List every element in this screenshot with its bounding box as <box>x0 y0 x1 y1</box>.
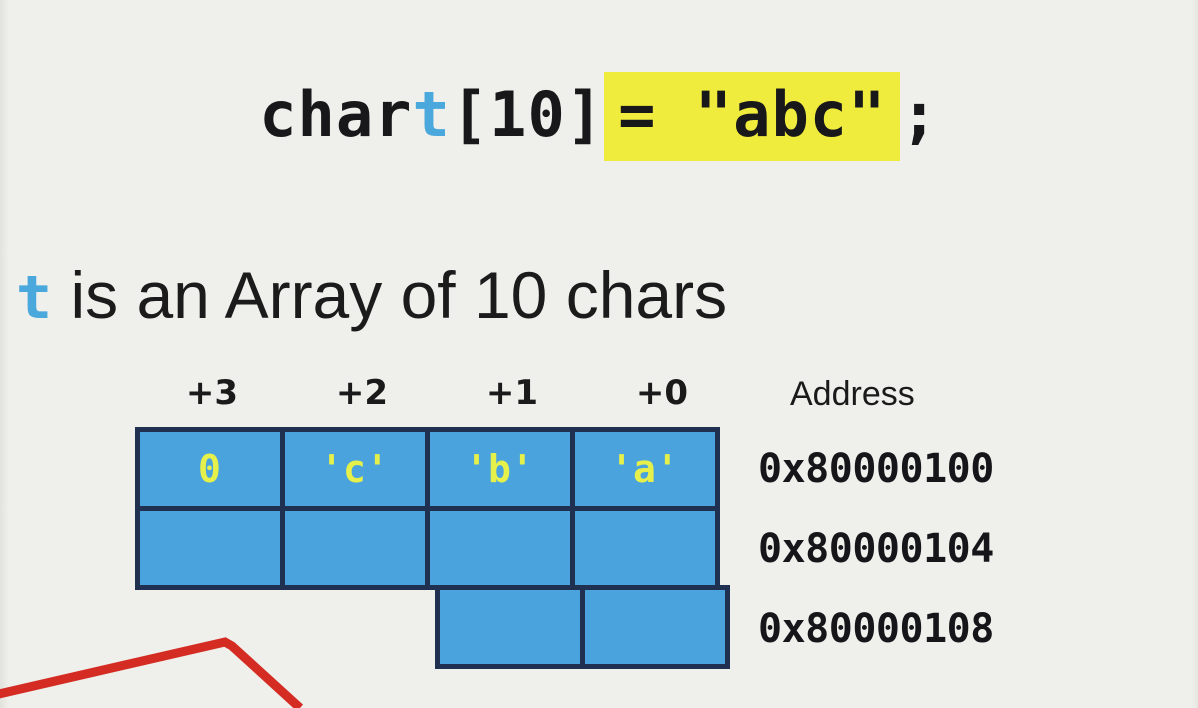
memory-cell <box>580 585 730 669</box>
offset-label-plus1: +1 <box>437 373 587 413</box>
offset-label-plus3: +3 <box>137 373 287 413</box>
headline-variable-t: t <box>16 263 52 333</box>
page-title: t is an Array of 10 chars <box>16 262 727 328</box>
address-column: 0x80000100 0x80000104 0x80000108 <box>758 429 994 669</box>
offset-label-plus2: +2 <box>287 373 437 413</box>
code-declaration-line: char t[10] = "abc"; <box>0 72 1198 161</box>
code-array-size: [10] <box>451 84 604 146</box>
address-value: 0x80000104 <box>758 509 994 589</box>
memory-row <box>437 587 737 666</box>
memory-cell: 'c' <box>280 427 430 511</box>
code-highlighted-assignment: = "abc" <box>604 72 900 161</box>
memory-row <box>137 508 737 587</box>
byte-offset-header-row: +3 +2 +1 +0 <box>137 373 737 413</box>
memory-cell <box>135 506 285 590</box>
code-semicolon: ; <box>900 84 938 146</box>
address-value: 0x80000100 <box>758 429 994 509</box>
memory-cell <box>280 506 430 590</box>
memory-cell <box>435 585 585 669</box>
memory-cell: 0 <box>135 427 285 511</box>
memory-cell-grid: 0 'c' 'b' 'a' <box>137 429 737 666</box>
memory-cell <box>425 506 575 590</box>
offset-label-plus0: +0 <box>587 373 737 413</box>
address-value: 0x80000108 <box>758 589 994 669</box>
address-column-header: Address <box>790 375 915 414</box>
headline-text: is an Array of 10 chars <box>52 258 727 332</box>
memory-cell: 'a' <box>570 427 720 511</box>
code-variable-t: t <box>413 84 451 146</box>
memory-cell: 'b' <box>425 427 575 511</box>
code-keyword-char: char <box>259 84 412 146</box>
memory-row: 0 'c' 'b' 'a' <box>137 429 737 508</box>
memory-cell <box>570 506 720 590</box>
